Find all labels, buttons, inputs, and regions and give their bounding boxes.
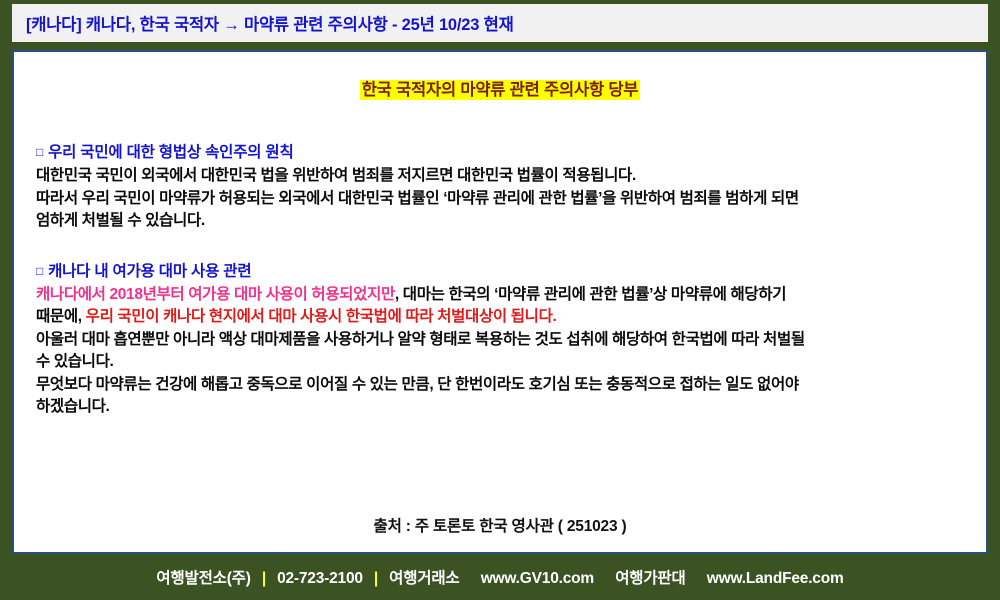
source-line: 출처 : 주 토론토 한국 영사관 ( 251023 ) xyxy=(14,514,986,536)
section-heading: □우리 국민에 대한 형법상 속인주의 원칙 xyxy=(36,140,964,162)
paragraph-text: 수 있습니다. xyxy=(36,353,113,370)
paragraph-text: 때문에, xyxy=(36,308,86,325)
paragraph-line: 따라서 우리 국민이 마약류가 허용되는 외국에서 대한민국 법률인 ‘마약류 … xyxy=(36,188,964,211)
paragraph-line: 아울러 대마 흡연뿐만 아니라 액상 대마제품을 사용하거나 알약 형태로 복용… xyxy=(36,329,964,352)
paragraph-text: 엄하게 처벌될 수 있습니다. xyxy=(36,212,205,229)
footer-company: 여행발전소(주) xyxy=(156,570,250,587)
paragraph-text: 캐나다에서 2018년부터 여가용 대마 사용이 허용되었지만 xyxy=(36,286,395,303)
content-panel: 한국 국적자의 마약류 관련 주의사항 당부 □우리 국민에 대한 형법상 속인… xyxy=(12,50,988,554)
footer-site-1[interactable]: www.GV10.com xyxy=(481,570,594,587)
footer-site-2[interactable]: www.LandFee.com xyxy=(707,570,844,587)
section-heading-label: 우리 국민에 대한 형법상 속인주의 원칙 xyxy=(48,144,294,161)
paragraph-text: 아울러 대마 흡연뿐만 아니라 액상 대마제품을 사용하거나 알약 형태로 복용… xyxy=(36,331,805,348)
paragraph-line: 하겠습니다. xyxy=(36,396,964,419)
paragraph-line: 대한민국 국민이 외국에서 대한민국 법을 위반하여 범죄를 저지르면 대한민국… xyxy=(36,165,964,188)
paragraph-text: 무엇보다 마약류는 건강에 해롭고 중독으로 이어질 수 있는 만큼, 단 한번… xyxy=(36,376,799,393)
footer-phone[interactable]: 02-723-2100 xyxy=(277,570,363,587)
poster-page: [캐나다] 캐나다, 한국 국적자 → 마약류 관련 주의사항 - 25년 10… xyxy=(0,0,1000,600)
footer-content: 여행발전소(주) | 02-723-2100 | 여행거래소 www.GV10.… xyxy=(156,566,843,588)
footer-brand-1: 여행거래소 xyxy=(389,570,459,587)
header-bar: [캐나다] 캐나다, 한국 국적자 → 마약류 관련 주의사항 - 25년 10… xyxy=(12,4,988,42)
document-title: 한국 국적자의 마약류 관련 주의사항 당부 xyxy=(360,80,641,100)
paragraph-text: 하겠습니다. xyxy=(36,398,110,415)
footer-brand-2: 여행가판대 xyxy=(615,570,685,587)
paragraph-line: 캐나다에서 2018년부터 여가용 대마 사용이 허용되었지만, 대마는 한국의… xyxy=(36,284,964,307)
paragraph-text: , 대마는 한국의 ‘마약류 관리에 관한 법률’상 마약류에 해당하기 xyxy=(395,286,786,303)
document-section: □우리 국민에 대한 형법상 속인주의 원칙대한민국 국민이 외국에서 대한민국… xyxy=(36,140,964,233)
footer-separator-2: | xyxy=(374,570,378,587)
paragraph-text: 따라서 우리 국민이 마약류가 허용되는 외국에서 대한민국 법률인 ‘마약류 … xyxy=(36,190,799,207)
square-bullet-icon: □ xyxy=(36,145,43,159)
header-title: [캐나다] 캐나다, 한국 국적자 → 마약류 관련 주의사항 - 25년 10… xyxy=(26,11,514,35)
footer-separator-1: | xyxy=(262,570,266,587)
footer-bar: 여행발전소(주) | 02-723-2100 | 여행거래소 www.GV10.… xyxy=(0,554,1000,600)
document-section: □캐나다 내 여가용 대마 사용 관련캐나다에서 2018년부터 여가용 대마 … xyxy=(36,259,964,419)
sections-container: □우리 국민에 대한 형법상 속인주의 원칙대한민국 국민이 외국에서 대한민국… xyxy=(36,140,964,419)
paragraph-text: 대한민국 국민이 외국에서 대한민국 법을 위반하여 범죄를 저지르면 대한민국… xyxy=(36,167,636,184)
document-title-row: 한국 국적자의 마약류 관련 주의사항 당부 xyxy=(36,76,964,100)
paragraph-line: 무엇보다 마약류는 건강에 해롭고 중독으로 이어질 수 있는 만큼, 단 한번… xyxy=(36,374,964,397)
paragraph-line: 수 있습니다. xyxy=(36,351,964,374)
section-heading: □캐나다 내 여가용 대마 사용 관련 xyxy=(36,259,964,281)
paragraph-line: 엄하게 처벌될 수 있습니다. xyxy=(36,210,964,233)
square-bullet-icon: □ xyxy=(36,264,43,278)
paragraph-text: 우리 국민이 캐나다 현지에서 대마 사용시 한국법에 따라 처벌대상이 됩니다… xyxy=(86,308,557,325)
section-heading-label: 캐나다 내 여가용 대마 사용 관련 xyxy=(48,263,251,280)
paragraph-line: 때문에, 우리 국민이 캐나다 현지에서 대마 사용시 한국법에 따라 처벌대상… xyxy=(36,306,964,329)
